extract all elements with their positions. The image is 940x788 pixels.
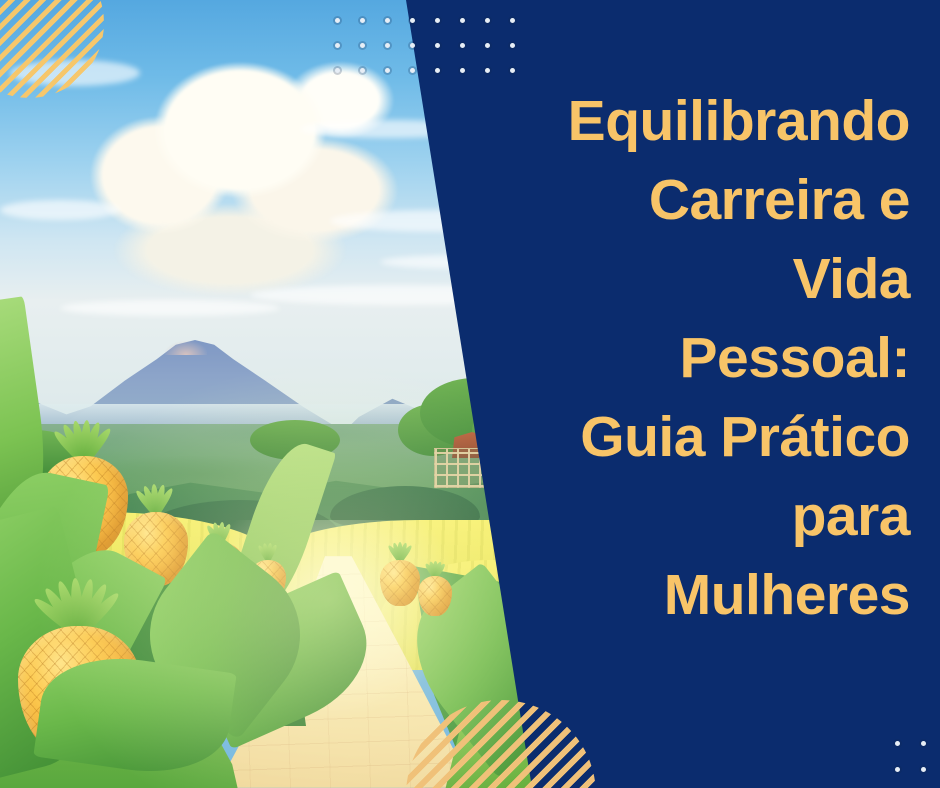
dot	[510, 18, 515, 23]
dot-grid-bottom-right	[884, 730, 940, 788]
dot	[435, 43, 440, 48]
poster-title: Equilibrando Carreira e Vida Pessoal: Gu…	[470, 82, 910, 635]
pineapple-fruit	[418, 566, 452, 616]
dot	[410, 43, 415, 48]
title-line: Equilibrando	[470, 82, 910, 161]
dot	[485, 18, 490, 23]
dot	[921, 741, 926, 746]
pineapple-crown-icon	[24, 572, 134, 634]
title-line: Guia Prático	[470, 398, 910, 477]
dot	[435, 18, 440, 23]
dot	[410, 68, 415, 73]
pineapple-crown-icon	[252, 542, 284, 560]
dot	[460, 68, 465, 73]
pineapple-crown-icon	[127, 482, 185, 514]
dot	[335, 68, 340, 73]
poster-canvas: Equilibrando Carreira e Vida Pessoal: Gu…	[0, 0, 940, 788]
dot	[510, 68, 515, 73]
title-line: Vida	[470, 240, 910, 319]
dot	[360, 68, 365, 73]
dot	[460, 43, 465, 48]
dot	[360, 43, 365, 48]
pineapple-fruit	[380, 548, 420, 606]
dot	[485, 43, 490, 48]
pineapple-body	[418, 576, 452, 616]
dot	[335, 43, 340, 48]
title-line: Mulheres	[470, 556, 910, 635]
dot	[485, 68, 490, 73]
dot	[360, 18, 365, 23]
dot	[385, 68, 390, 73]
dot	[335, 18, 340, 23]
dot	[895, 767, 900, 772]
dot-grid-top	[325, 8, 525, 83]
pineapple-crown-icon	[382, 541, 418, 561]
dot	[921, 767, 926, 772]
title-line: Carreira e	[470, 161, 910, 240]
dot	[410, 18, 415, 23]
volcano-summit	[165, 341, 207, 355]
pineapple-body	[380, 560, 420, 606]
dot	[895, 741, 900, 746]
cloud-wisp-icon	[0, 200, 120, 220]
dot	[385, 18, 390, 23]
dot	[385, 43, 390, 48]
title-line: Pessoal:	[470, 319, 910, 398]
dot	[460, 18, 465, 23]
dot	[435, 68, 440, 73]
cloud-wisp-icon	[60, 300, 280, 316]
dot	[510, 43, 515, 48]
title-line: para	[470, 477, 910, 556]
pineapple-crown-icon	[420, 560, 450, 577]
